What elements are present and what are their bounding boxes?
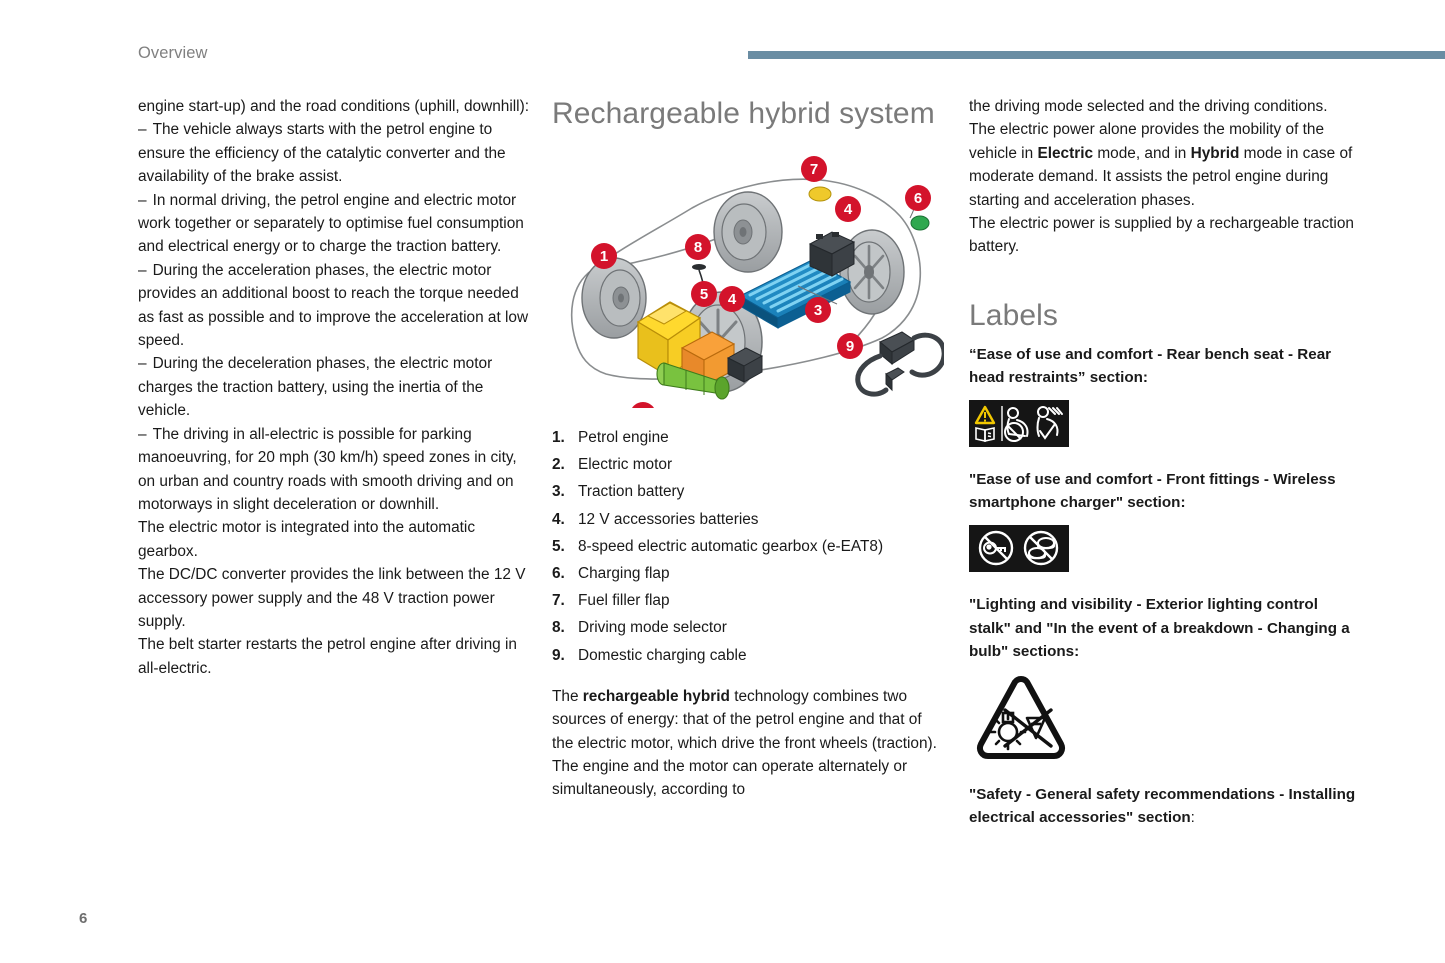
list-item-label: Driving mode selector <box>578 614 727 641</box>
bullet-text: In normal driving, the petrol engine and… <box>138 192 524 256</box>
list-item: 1.Petrol engine <box>552 424 944 451</box>
label-caption-wireless-charger: "Ease of use and comfort - Front fitting… <box>969 468 1361 515</box>
list-item: 9.Domestic charging cable <box>552 642 944 669</box>
list-item-number: 7. <box>552 587 578 614</box>
callout-4-front: 4 <box>719 286 745 312</box>
svg-text:9: 9 <box>846 338 854 355</box>
text-b: mode, and in <box>1093 145 1191 162</box>
list-item-label: Electric motor <box>578 451 672 478</box>
svg-text:3: 3 <box>814 302 822 319</box>
list-item-label: Petrol engine <box>578 424 669 451</box>
label-caption-exterior-lighting: "Lighting and visibility - Exterior ligh… <box>969 593 1361 663</box>
text-lead: The <box>552 688 583 705</box>
svg-text:7: 7 <box>810 161 818 178</box>
wheel-rear-left-near <box>582 258 646 338</box>
svg-text:4: 4 <box>728 291 737 308</box>
list-item: 3.Traction battery <box>552 478 944 505</box>
list-item-label: Charging flap <box>578 560 670 587</box>
intro-paragraph: engine start-up) and the road conditions… <box>138 95 530 118</box>
dash-marker: – <box>138 121 147 138</box>
paragraph-traction-battery-supply: The electric power is supplied by a rech… <box>969 212 1361 259</box>
paragraph-electric-power-mobility: The electric power alone provides the mo… <box>969 118 1361 212</box>
bullet-text: During the deceleration phases, the elec… <box>138 355 492 419</box>
list-item: 2.Electric motor <box>552 451 944 478</box>
wheel-rear-left <box>714 192 782 272</box>
bullet-item-1: –The vehicle always starts with the petr… <box>138 118 530 188</box>
column-right: the driving mode selected and the drivin… <box>969 95 1361 830</box>
paragraph-engine-motor-operate: The engine and the motor can operate alt… <box>552 755 944 802</box>
domestic-charging-cable <box>858 332 944 394</box>
svg-text:1: 1 <box>600 248 608 265</box>
svg-text:5: 5 <box>700 286 708 303</box>
svg-text:4: 4 <box>844 201 853 218</box>
callout-4-rear: 4 <box>835 196 861 222</box>
callout-9: 9 <box>837 333 863 359</box>
paragraph-dcdc-converter: The DC/DC converter provides the link be… <box>138 563 530 633</box>
label-caption-rear-bench-seat: “Ease of use and comfort - Rear bench se… <box>969 343 1361 390</box>
list-item-number: 3. <box>552 478 578 505</box>
list-item-number: 6. <box>552 560 578 587</box>
list-item: 6.Charging flap <box>552 560 944 587</box>
callout-3: 3 <box>805 297 831 323</box>
page-header-title: Overview <box>138 44 208 63</box>
document-page: Overview engine start-up) and the road c… <box>0 0 1445 963</box>
label-caption-installing-electrical-accessories: "Safety - General safety recommendations… <box>969 783 1361 830</box>
callout-8: 8 <box>685 234 711 260</box>
svg-text:8: 8 <box>694 239 702 256</box>
column-middle: Rechargeable hybrid system <box>552 95 944 802</box>
dash-marker: – <box>138 426 147 443</box>
bullet-text: The driving in all-electric is possible … <box>138 426 517 513</box>
wireless-charger-warning-label <box>969 525 1361 579</box>
list-item-label: Fuel filler flap <box>578 587 670 614</box>
paragraph-belt-starter: The belt starter restarts the petrol eng… <box>138 633 530 680</box>
fuel-filler-flap <box>809 187 831 201</box>
dash-marker: – <box>138 355 147 372</box>
list-item-label: 12 V accessories batteries <box>578 506 759 533</box>
dash-marker: – <box>138 192 147 209</box>
callout-6: 6 <box>905 185 931 211</box>
header-rule <box>748 51 1445 59</box>
charging-flap <box>911 216 929 230</box>
bullet-text: The vehicle always starts with the petro… <box>138 121 506 185</box>
list-item-number: 9. <box>552 642 578 669</box>
page-number: 6 <box>79 910 87 927</box>
rechargeable-hybrid-system-figure: 1 2 3 4 4 <box>552 146 944 408</box>
list-item: 4.12 V accessories batteries <box>552 506 944 533</box>
text-bold-hybrid: Hybrid <box>1191 145 1240 162</box>
label-caption-text: "Safety - General safety recommendations… <box>969 786 1355 826</box>
list-item-number: 4. <box>552 506 578 533</box>
bulb-warning-triangle-label <box>969 674 1361 769</box>
callout-2: 2 <box>630 402 656 408</box>
callout-5: 5 <box>691 281 717 307</box>
bullet-item-4: –During the deceleration phases, the ele… <box>138 352 530 422</box>
column-left: engine start-up) and the road conditions… <box>138 95 530 680</box>
list-item-label: Traction battery <box>578 478 684 505</box>
list-item-number: 5. <box>552 533 578 560</box>
bullet-item-5: –The driving in all-electric is possible… <box>138 423 530 517</box>
dash-marker: – <box>138 262 147 279</box>
svg-text:2: 2 <box>639 407 647 408</box>
list-item-label: 8-speed electric automatic gearbox (e-EA… <box>578 533 883 560</box>
list-item-number: 8. <box>552 614 578 641</box>
list-item: 8.Driving mode selector <box>552 614 944 641</box>
list-item-label: Domestic charging cable <box>578 642 747 669</box>
list-item-number: 1. <box>552 424 578 451</box>
bullet-item-3: –During the acceleration phases, the ele… <box>138 259 530 353</box>
callout-7: 7 <box>801 156 827 182</box>
bullet-text: During the acceleration phases, the elec… <box>138 262 528 349</box>
svg-text:6: 6 <box>914 190 922 207</box>
paragraph-rechargeable-hybrid-technology: The rechargeable hybrid technology combi… <box>552 685 944 755</box>
rear-bench-seat-warning-label <box>969 400 1361 454</box>
section-heading-labels: Labels <box>969 299 1361 333</box>
text-bold-rechargeable-hybrid: rechargeable hybrid <box>583 688 730 705</box>
paragraph-driving-mode: the driving mode selected and the drivin… <box>969 95 1361 118</box>
parts-list: 1.Petrol engine 2.Electric motor 3.Tract… <box>552 424 944 669</box>
section-heading-rechargeable-hybrid-system: Rechargeable hybrid system <box>552 95 944 132</box>
bullet-item-2: –In normal driving, the petrol engine an… <box>138 189 530 259</box>
paragraph-electric-motor-gearbox: The electric motor is integrated into th… <box>138 516 530 563</box>
list-item-number: 2. <box>552 451 578 478</box>
text-bold-electric: Electric <box>1037 145 1093 162</box>
list-item: 7.Fuel filler flap <box>552 587 944 614</box>
label-caption-colon: : <box>1191 809 1195 826</box>
list-item: 5.8-speed electric automatic gearbox (e-… <box>552 533 944 560</box>
callout-1: 1 <box>591 243 617 269</box>
